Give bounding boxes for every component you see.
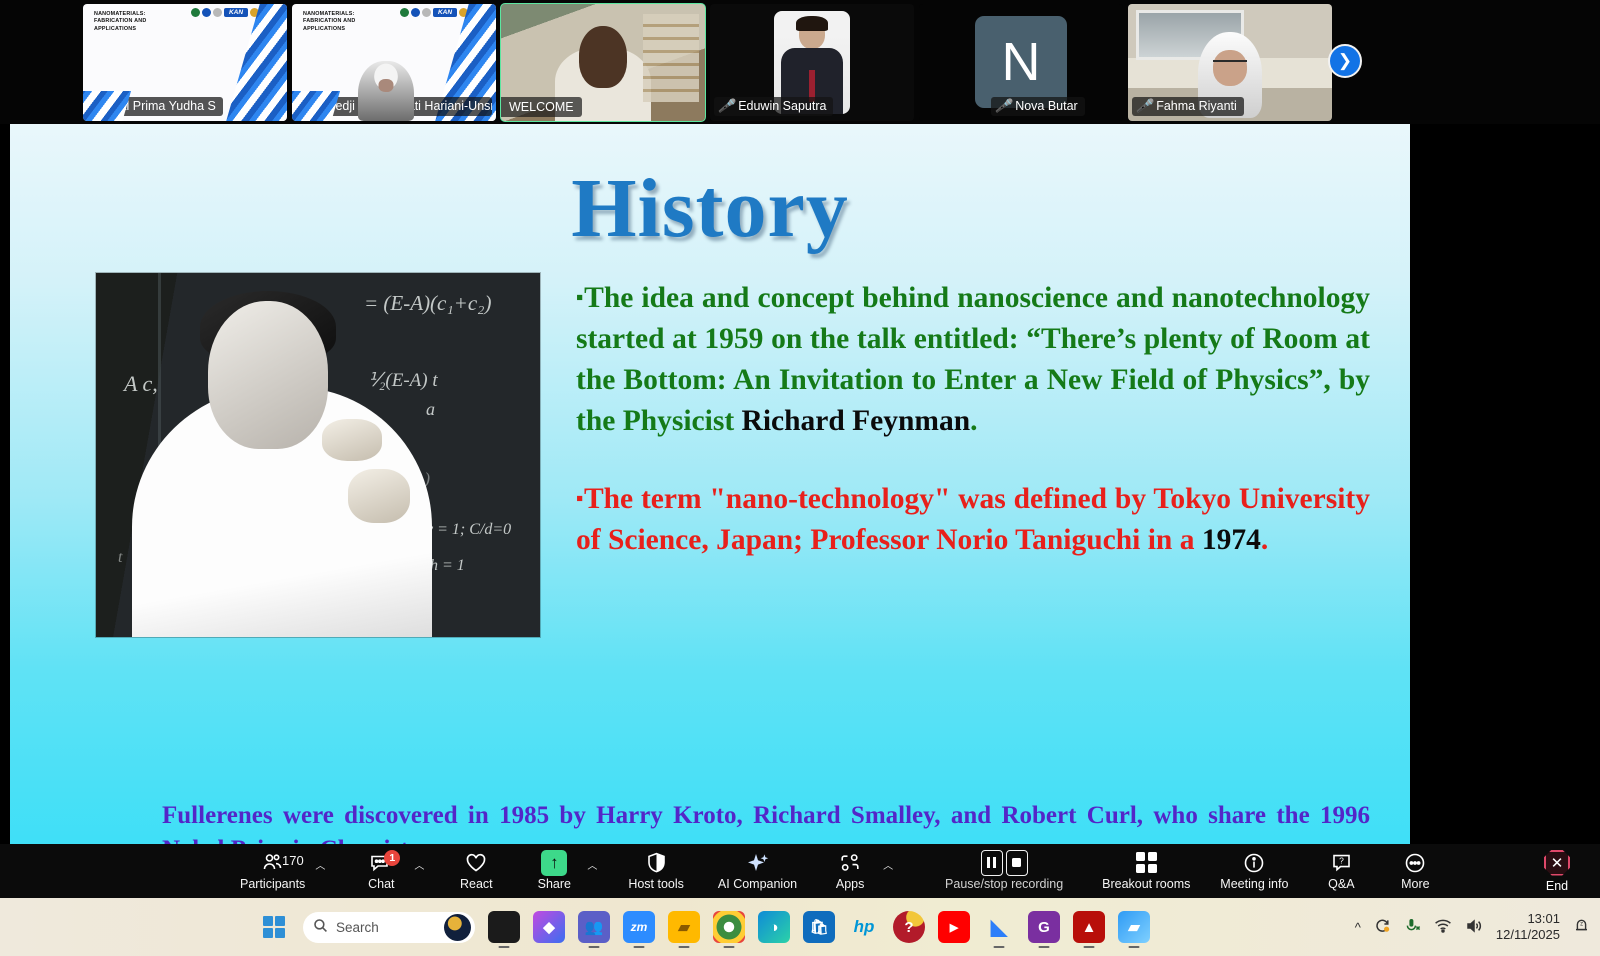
bullet-paragraph-1: ▪The idea and concept behind nanoscience… [576,277,1370,442]
host-tools-label: Host tools [628,877,684,891]
bullet-tail-2: . [1261,524,1268,556]
logo-icon-2 [411,8,420,17]
copilot-icon[interactable]: ◆ [533,911,565,943]
video-tile-2[interactable]: NANOMATERIALS: FABRICATION AND APPLICATI… [292,4,496,121]
tray-overflow-button[interactable]: ^ [1355,920,1361,935]
teams-icon[interactable]: 👥 [578,911,610,943]
volume-icon[interactable] [1465,918,1483,937]
adobe-acrobat-icon[interactable]: ▲ [1073,911,1105,943]
search-placeholder: Search [336,920,379,935]
blackboard: = (E-A)(c₁+c₂) ⅟₂(E-A) t a A c, q(E+A) v… [96,273,540,637]
apps-button[interactable]: Apps [819,844,881,898]
logo-icon-5 [261,8,270,17]
breakout-rooms-label: Breakout rooms [1102,877,1190,891]
react-label: React [460,877,493,891]
logo-icon-4 [459,8,468,17]
app-icon-dark[interactable] [488,911,520,943]
taskbar-apps: Search ◆ 👥 zm ▰ ◑ 🛍 hp ? ▶ ◣ G ▲ ▰ [258,898,1150,956]
tile-name-label-4: 🎤 Eduwin Saputra [714,97,833,116]
react-button[interactable]: React [445,844,507,898]
stop-recording-icon [1006,850,1028,876]
edge-icon[interactable]: ◑ [758,911,790,943]
record-controls-icon [981,852,1028,874]
bullet-paragraph-2: ▪The term "nano-technology" was defined … [576,478,1370,561]
zoom-toolbar: Participants 170 ︿ 1 Chat ︿ [0,844,1600,898]
end-label: End [1546,879,1568,893]
clock-date: 12/11/2025 [1496,927,1560,943]
share-label: Share [538,877,571,891]
apps-icon [839,852,861,874]
more-button[interactable]: More [1384,844,1446,898]
heart-icon [465,852,487,874]
chat-label: Chat [368,877,394,891]
pause-recording-icon [981,850,1003,876]
search-icon [313,918,328,936]
info-icon [1243,852,1265,874]
bullet-marker-2: ▪ [576,486,584,510]
clock-time: 13:01 [1496,911,1560,927]
youtube-icon[interactable]: ▶ [938,911,970,943]
ai-companion-button[interactable]: AI Companion [710,844,805,898]
participant-silhouette [358,61,414,121]
video-tile-3-active-speaker[interactable]: WELCOME [501,4,705,121]
clock[interactable]: 13:01 12/11/2025 [1496,911,1560,943]
slide-text-column: ▪The idea and concept behind nanoscience… [576,273,1370,637]
participants-icon [262,852,284,874]
kan-logo: KAN [224,8,248,17]
sync-icon[interactable] [1374,917,1391,937]
system-tray: ^ [1355,898,1590,956]
logo-icon-1 [191,8,200,17]
logo-icon-3 [213,8,222,17]
tile-name-label-5: 🎤 Nova Butar [991,97,1085,116]
start-button[interactable] [258,911,290,943]
logo-icon-5 [470,8,479,17]
participants-label: Participants [240,877,305,891]
mic-muted-icon[interactable] [1404,917,1421,937]
slide-title: History [10,124,1410,257]
chevron-right-icon: ❯ [1338,51,1352,71]
equation-8: t [118,549,122,567]
mendeley-icon[interactable]: ? [893,911,925,943]
deck-thumb-title: NANOMATERIALS: FABRICATION AND APPLICATI… [94,11,182,34]
sparkle-icon [746,852,770,874]
apps-caret-icon[interactable]: ︿ [881,857,902,886]
search-input[interactable]: Search [303,912,475,943]
search-highlight-icon [444,914,471,941]
svg-text:z: z [1580,922,1583,928]
zoom-icon[interactable]: zm [623,911,655,943]
participants-caret-icon[interactable]: ︿ [313,857,334,886]
logo-icon-3 [422,8,431,17]
windows-logo-icon [263,916,286,939]
chrome-icon[interactable] [713,911,745,943]
share-button[interactable]: ↑ Share [523,844,585,898]
ai-companion-label: AI Companion [718,877,797,891]
chat-caret-icon[interactable]: ︿ [412,857,433,886]
qa-icon: ? [1331,852,1352,874]
meeting-info-label: Meeting info [1220,877,1288,891]
shared-screen-stage: History = (E-A)(c₁+c₂) ⅟₂(E-A) t a A c, … [0,124,1600,844]
breakout-rooms-button[interactable]: Breakout rooms [1094,844,1198,898]
equation-1: = (E-A)(c₁+c₂) [364,291,491,316]
video-tile-1[interactable]: NANOMATERIALS: FABRICATION AND APPLICATI… [83,4,287,121]
slide-body: = (E-A)(c₁+c₂) ⅟₂(E-A) t a A c, q(E+A) v… [10,257,1410,637]
initial-avatar: N [975,16,1067,108]
subject-head [208,301,328,449]
document-icon[interactable]: ◣ [983,911,1015,943]
participant-face [1213,50,1247,86]
host-tools-button[interactable]: Host tools [620,844,692,898]
deck-thumb-title-2: NANOMATERIALS: FABRICATION AND APPLICATI… [303,11,391,34]
video-tile-5[interactable]: N 🎤 Nova Butar [919,4,1123,121]
video-filmstrip: NANOMATERIALS: FABRICATION AND APPLICATI… [0,0,1600,124]
bullet-emphasis-2: 1974 [1202,524,1261,556]
subject-hand-left [322,419,382,461]
tile-name-label-6: 🎤 Fahma Riyanti [1132,97,1244,116]
shield-icon [647,852,666,874]
chat-unread-badge: 1 [384,850,400,866]
apps-label: Apps [836,877,865,891]
deck-logos-2: KAN [400,8,479,17]
mic-muted-icon: 🎤 [995,99,1011,112]
screen-root: NANOMATERIALS: FABRICATION AND APPLICATI… [0,0,1600,956]
mic-muted-icon: 🎤 [718,99,734,112]
welcome-label: WELCOME [501,97,582,117]
qa-button[interactable]: ? Q&A [1310,844,1372,898]
share-screen-icon: ↑ [541,852,567,874]
photos-icon[interactable]: ▰ [1118,911,1150,943]
end-meeting-button[interactable]: ✕ End [1528,844,1586,898]
slide-footer-text: Fullerenes were discovered in 1985 by Ha… [162,799,1370,844]
video-tile-4[interactable]: 🎤 Eduwin Saputra [710,4,914,121]
bullet-marker: ▪ [576,285,584,309]
mic-muted-icon: 🎤 [1136,99,1152,112]
feynman-photo: = (E-A)(c₁+c₂) ⅟₂(E-A) t a A c, q(E+A) v… [96,273,540,637]
svg-text:?: ? [1339,855,1344,865]
meeting-info-button[interactable]: Meeting info [1208,844,1300,898]
share-caret-icon[interactable]: ︿ [585,857,606,886]
pause-stop-recording-label: Pause/stop recording [945,877,1063,891]
wifi-icon[interactable] [1434,918,1452,936]
participants-count: 170 [282,853,304,868]
equation-4: A c, [124,371,158,397]
glasses-icon [1213,60,1247,68]
grid-icon [1136,852,1157,874]
file-explorer-icon[interactable]: ▰ [668,911,700,943]
logo-icon-2 [202,8,211,17]
pause-stop-recording-button[interactable]: Pause/stop recording [924,844,1084,898]
background-shelf [643,14,699,102]
equation-2: ⅟₂(E-A) t [368,369,438,392]
bullet-tail-1: . [970,405,977,437]
windows-taskbar: Search ◆ 👥 zm ▰ ◑ 🛍 hp ? ▶ ◣ G ▲ ▰ ^ [0,898,1600,956]
notification-icon[interactable]: z [1573,917,1590,937]
presentation-slide: History = (E-A)(c₁+c₂) ⅟₂(E-A) t a A c, … [10,124,1410,844]
more-label: More [1401,877,1429,891]
avatar-head [799,20,825,49]
hp-icon[interactable]: hp [848,911,880,943]
toolbar-items: Participants 170 ︿ 1 Chat ︿ [232,844,1446,898]
participants-button[interactable]: Participants 170 [232,844,313,898]
kan-logo-2: KAN [433,8,457,17]
video-tile-6[interactable]: 🎤 Fahma Riyanti [1128,4,1332,121]
gpdf-icon[interactable]: G [1028,911,1060,943]
deck-logos: KAN [191,8,270,17]
equation-3: a [426,399,435,420]
logo-icon-4 [250,8,259,17]
microsoft-store-icon[interactable]: 🛍 [803,911,835,943]
chat-button[interactable]: 1 Chat [350,844,412,898]
equation-6: v = 1; C/d=0 [426,521,511,539]
next-page-button[interactable]: ❯ [1328,44,1362,78]
subject-hand-right [348,469,410,523]
bullet-emphasis-1: Richard Feynman [742,405,971,437]
end-call-icon: ✕ [1544,850,1570,876]
ellipsis-icon [1404,852,1426,874]
equation-7: h = 1 [430,557,465,575]
qa-label: Q&A [1328,877,1354,891]
logo-icon-1 [400,8,409,17]
